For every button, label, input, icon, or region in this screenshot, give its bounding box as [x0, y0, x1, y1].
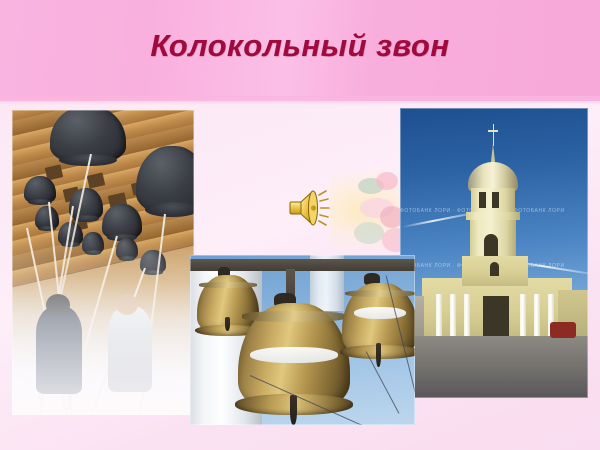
snow-on-bell [354, 307, 406, 319]
bell [24, 176, 56, 204]
bell [50, 110, 126, 164]
church-window [490, 262, 499, 276]
bell-clapper [225, 317, 230, 331]
parked-car [550, 322, 576, 338]
speaker-sound-icon[interactable] [286, 186, 334, 230]
cross-icon [488, 130, 498, 132]
cross-icon [493, 124, 495, 146]
photo-bells-under-wooden-roof [12, 110, 194, 415]
decor-shape [354, 222, 384, 244]
snow-on-bell [250, 347, 338, 363]
facade-column [520, 294, 526, 338]
slide-title: Колокольный звон [0, 28, 600, 64]
belfry-opening [479, 192, 486, 208]
church-doorway [483, 296, 509, 338]
belfry-opening [492, 192, 499, 208]
photo-three-bronze-bells [190, 255, 415, 425]
presentation-slide: Колокольный звон [0, 0, 600, 450]
facade-column [464, 294, 470, 338]
bell-clapper [376, 343, 381, 367]
facade-column [450, 294, 456, 338]
bell-clapper [290, 395, 297, 425]
bell-inscription-band [242, 311, 345, 322]
bell [69, 188, 103, 221]
title-band-edge [0, 96, 600, 105]
speaker-sound-icon-glyph [286, 186, 334, 230]
bell-decorative-band [199, 282, 256, 288]
church-plaza-ground [400, 336, 588, 398]
facade-column [534, 294, 540, 338]
photo-fade-overlay [12, 238, 194, 415]
tower-cornice [466, 212, 520, 220]
facade-column [436, 294, 442, 338]
bell [35, 206, 59, 230]
decor-shape [376, 172, 398, 190]
bell-decorative-band [345, 290, 415, 297]
bell [102, 204, 142, 240]
photo-bell-tower-church: ФОТОБАНК ЛОРИ · ФОТОБАНК ЛОРИ · ФОТОБАНК… [400, 108, 588, 398]
